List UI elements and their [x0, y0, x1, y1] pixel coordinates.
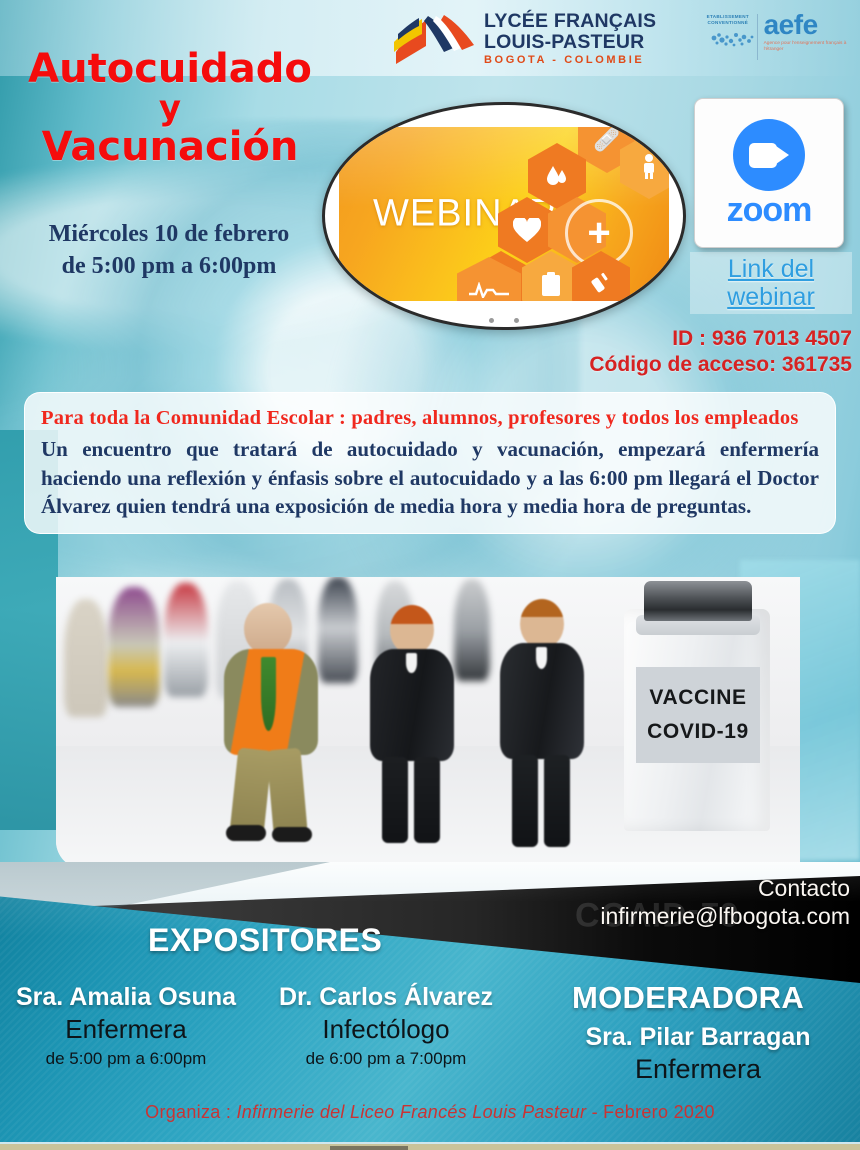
title-line-2: y [10, 90, 330, 126]
moderator-name: Sra. Pilar Barragan [548, 1022, 848, 1052]
description-body: Un encuentro que tratará de autocuidado … [41, 435, 819, 521]
heart-icon [498, 197, 556, 263]
school-name-line2: LOUIS-PASTEUR [484, 33, 656, 53]
background-figure [164, 583, 208, 697]
background-figure [108, 587, 160, 707]
speaker-time: de 6:00 pm a 7:00pm [252, 1048, 520, 1069]
event-date: Miércoles 10 de febrero [4, 218, 334, 250]
moderator-role: Enfermera [548, 1053, 848, 1087]
foreground-figure-suit-dark [488, 599, 606, 851]
bottom-strip [0, 1142, 860, 1150]
title-line-1: Autocuidado [10, 48, 330, 90]
moderator-heading: MODERADORA [572, 980, 804, 1016]
speaker-card-1: Sra. Amalia Osuna Enfermera de 5:00 pm a… [0, 982, 252, 1069]
organizer-suffix: - Febrero 2020 [586, 1102, 715, 1122]
background-figure [64, 599, 108, 717]
world-map-icon [706, 26, 758, 52]
webinar-link[interactable]: Link del webinar [690, 255, 852, 311]
speakers-heading: EXPOSITORES [148, 922, 382, 959]
zoom-wordmark: zoom [727, 193, 812, 227]
organizer-name: Infirmerie del Liceo Francés Louis Paste… [237, 1102, 587, 1122]
meeting-passcode: Código de acceso: 361735 [432, 352, 852, 378]
aefe-subtitle: Agence pour l'enseignement français à l'… [764, 41, 855, 53]
covid-vaccine-vial: VACCINE COVID-19 [618, 581, 778, 833]
lycee-francais-logo: LYCÉE FRANÇAIS LOUIS-PASTEUR BOGOTA - CO… [392, 8, 692, 70]
open-book-flag-icon [392, 12, 476, 66]
vial-label: VACCINE COVID-19 [636, 667, 760, 763]
tablet-home-dots [489, 318, 519, 323]
foreground-figure-orange [204, 603, 344, 841]
foreground-figure-suit-red-hair [356, 605, 476, 851]
vial-label-line1: VACCINE [649, 686, 746, 710]
contact-email[interactable]: infirmerie@lfbogota.com [600, 902, 850, 930]
miniature-figures-photo: VACCINE COVID-19 [56, 577, 800, 869]
meeting-id: ID : 936 7013 4507 [432, 326, 852, 352]
organizer-line: Organiza : Infirmerie del Liceo Francés … [0, 1102, 860, 1123]
speaker-role: Infectólogo [252, 1013, 520, 1046]
tablet-screen: WEBINAR 🩹 + [339, 127, 669, 301]
webinar-illustration: WEBINAR 🩹 + [322, 102, 686, 330]
vial-label-line2: COVID-19 [647, 720, 749, 744]
event-time: de 5:00 pm a 6:00pm [4, 250, 334, 282]
vial-cap [644, 581, 752, 621]
organizer-prefix: Organiza : [145, 1102, 236, 1122]
meeting-credentials: ID : 936 7013 4507 Código de acceso: 361… [432, 326, 852, 379]
event-datetime: Miércoles 10 de febrero de 5:00 pm a 6:0… [4, 218, 334, 283]
speaker-card-2: Dr. Carlos Álvarez Infectólogo de 6:00 p… [252, 982, 520, 1069]
school-location: BOGOTA - COLOMBIE [484, 55, 656, 66]
footer-section: COVID-19 Contacto infirmerie@lfbogota.co… [0, 862, 860, 1150]
aefe-establishment-label: ETABLISSEMENT CONVENTIONNÉ [705, 10, 751, 25]
contact-label: Contacto [600, 874, 850, 902]
speaker-role: Enfermera [0, 1013, 252, 1046]
contact-block: Contacto infirmerie@lfbogota.com [600, 874, 850, 930]
speaker-name: Dr. Carlos Álvarez [252, 982, 520, 1012]
audience-highlight: Para toda la Comunidad Escolar : padres,… [41, 405, 819, 431]
speaker-name: Sra. Amalia Osuna [0, 982, 252, 1012]
moderator-card: Sra. Pilar Barragan Enfermera [548, 1022, 848, 1087]
zoom-logo-card: zoom [694, 98, 844, 248]
aefe-wordmark: aefe [764, 12, 855, 39]
video-camera-icon [733, 119, 805, 191]
webinar-link-box[interactable]: Link del webinar [690, 252, 852, 314]
speaker-time: de 5:00 pm a 6:00pm [0, 1048, 252, 1069]
poster-title: Autocuidado y Vacunación [10, 48, 330, 169]
description-panel: Para toda la Comunidad Escolar : padres,… [24, 392, 836, 534]
poster-root: LYCÉE FRANÇAIS LOUIS-PASTEUR BOGOTA - CO… [0, 0, 860, 1150]
school-name-line1: LYCÉE FRANÇAIS [484, 12, 656, 32]
title-line-3: Vacunación [10, 126, 330, 168]
